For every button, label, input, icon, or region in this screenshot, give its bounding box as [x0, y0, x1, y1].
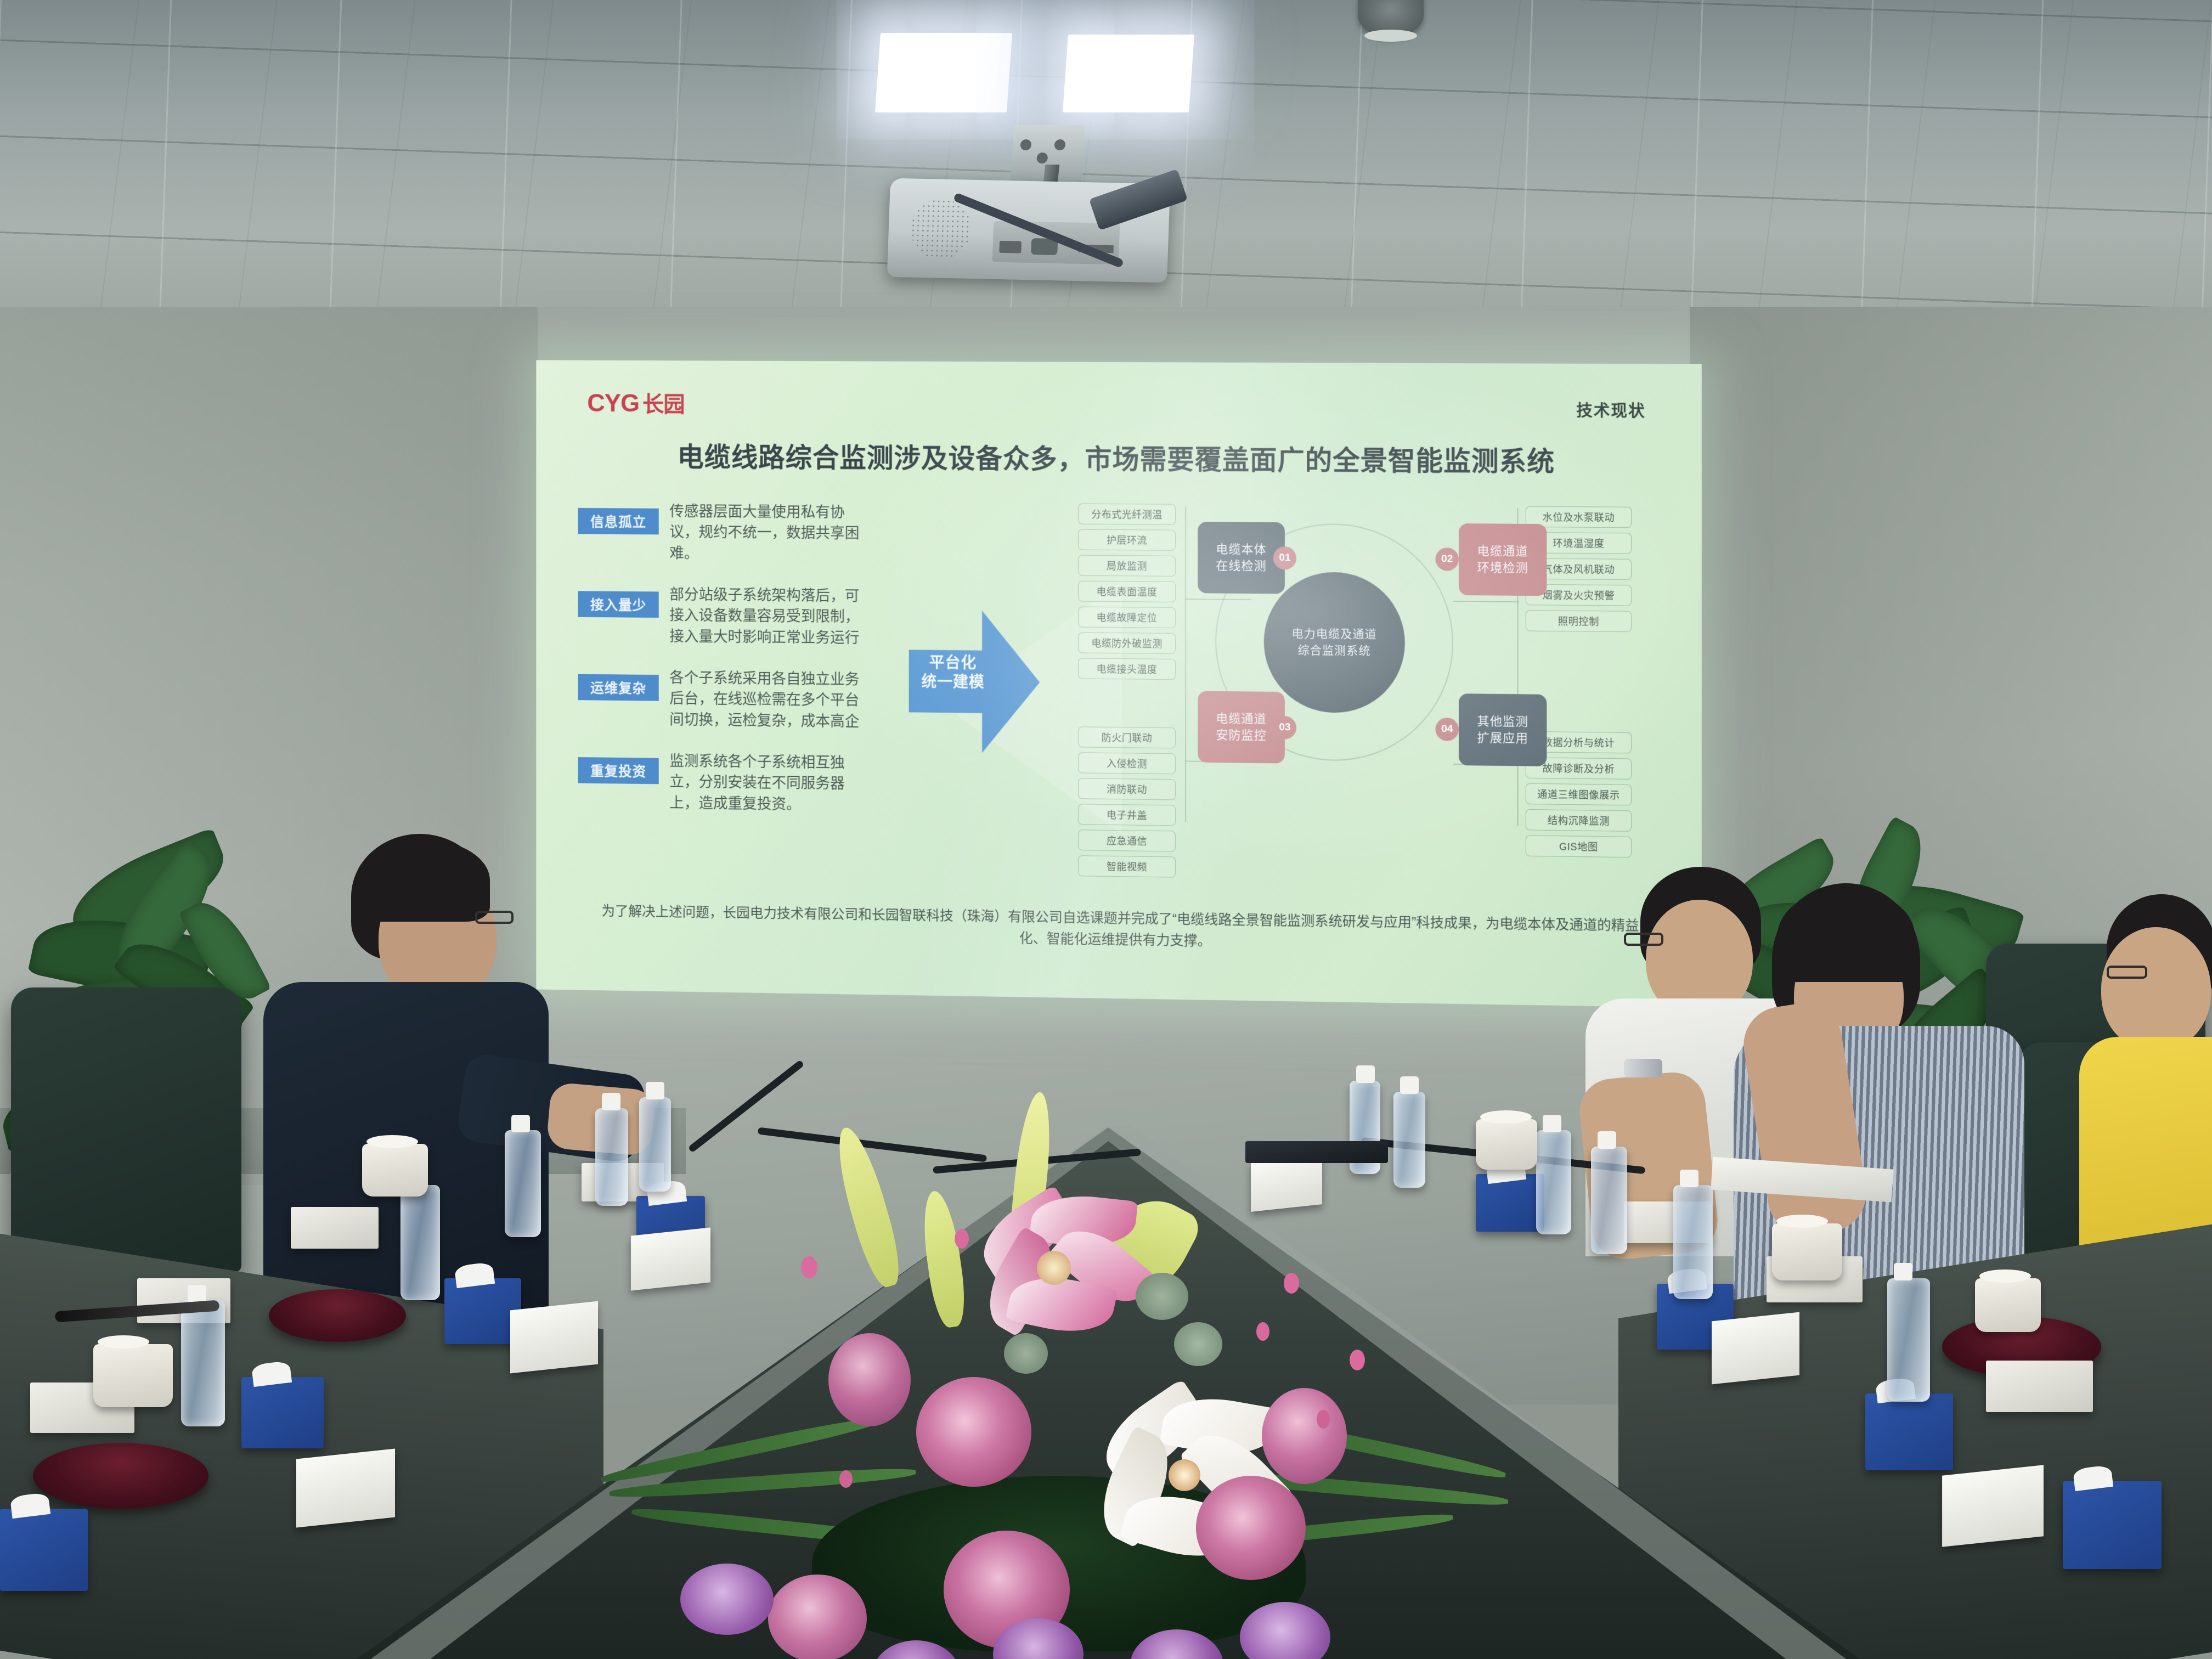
quadrant-card-04: 其他监测 扩展应用: [1459, 693, 1547, 766]
capability-pill: 防火门联动: [1078, 726, 1176, 748]
issue-tag: 接入量少: [578, 591, 659, 618]
capability-pill: 通道三维图像展示: [1526, 783, 1632, 806]
quadrant-card-02: 电缆通道 环境检测: [1459, 523, 1547, 596]
logo-chinese-text: 长园: [642, 387, 685, 419]
quadrant-line2: 在线检测: [1216, 557, 1266, 574]
issue-tag: 信息孤立: [578, 508, 659, 534]
capability-pill: 护层环流: [1078, 529, 1176, 551]
issue-item: 信息孤立 传感器层面大量使用私有协议，规约不统一，数据共享困难。: [578, 500, 881, 565]
capability-pill: 智能视频: [1078, 855, 1176, 877]
cyg-logo: CYG 长园: [587, 386, 684, 418]
capability-pill: GIS地图: [1526, 835, 1632, 857]
issue-text: 监测系统各个子系统相互独立，分别安装在不同服务器上，造成重复投资。: [669, 751, 871, 816]
connector-branch: [1453, 601, 1519, 602]
issue-text: 部分站级子系统架构落后，可接入设备数量容易受到限制，接入量大时影响正常业务运行: [669, 584, 871, 648]
quadrant-number-04: 04: [1435, 718, 1459, 741]
napkin-box: [1986, 1361, 2093, 1412]
rose: [1196, 1476, 1306, 1580]
capability-pill: 局放监测: [1078, 555, 1176, 577]
water-bottle: [1536, 1130, 1571, 1234]
platform-arrow: 平台化 统一建模: [909, 610, 1040, 754]
tissue-box: [0, 1509, 88, 1591]
ceiling-light-panel-2: [1063, 35, 1194, 112]
rose-bud: [1262, 1388, 1347, 1484]
connector-rail-left: [1185, 506, 1186, 822]
quadrant-line2: 扩展应用: [1477, 730, 1528, 747]
capability-pill: 照明控制: [1526, 610, 1632, 632]
orchid: [680, 1564, 774, 1635]
issue-text: 各个子系统采用各自独立业务后台，在线巡检需在多个平台间切换，运检复杂，成本高企: [669, 667, 871, 732]
tea-cup: [93, 1344, 173, 1407]
issue-text: 传感器层面大量使用私有协议，规约不统一，数据共享困难。: [669, 501, 864, 565]
water-bottle: [400, 1185, 440, 1300]
grape-bowl: [33, 1443, 208, 1509]
slide-footer-text: 为了解决上述问题，长园电力技术有限公司和长园智联科技（珠海）有限公司自选课题并完…: [595, 901, 1646, 958]
hub-core: 电力电缆及通道 综合监测系统: [1264, 572, 1405, 713]
quadrant-line2: 环境检测: [1477, 560, 1528, 577]
quadrant-line2: 安防监控: [1216, 727, 1266, 744]
capability-pill: 结构沉降监测: [1526, 809, 1632, 832]
napkin-box: [291, 1207, 379, 1249]
water-bottle: [505, 1130, 541, 1237]
tissue-box: [2063, 1481, 2162, 1569]
arrow-label-line2: 统一建模: [912, 672, 994, 692]
name-card: [296, 1449, 395, 1528]
grape-bowl: [269, 1289, 406, 1342]
issues-list: 信息孤立 传感器层面大量使用私有协议，规约不统一，数据共享困难。 接入量少 部分…: [578, 500, 881, 837]
eyeglasses-icon: [2107, 966, 2147, 979]
issue-item: 重复投资 监测系统各个子系统相互独立，分别安装在不同服务器上，造成重复投资。: [578, 749, 881, 816]
pill-column-left-bottom: 防火门联动入侵检测消防联动电子井盖应急通信智能视频: [1078, 726, 1174, 882]
name-card: [510, 1301, 598, 1374]
tissue-box: [1865, 1393, 1953, 1470]
pill-column-left-top: 分布式光纤测温护层环流局放监测电缆表面温度电缆故障定位电缆防外破监测电缆接头温度: [1078, 504, 1174, 685]
issue-item: 接入量少 部分站级子系统架构落后，可接入设备数量容易受到限制，接入量大时影响正常…: [578, 583, 881, 648]
logo-latin-text: CYG: [587, 388, 639, 417]
tissue-box: [444, 1278, 521, 1344]
ceiling-light-panel-1: [875, 33, 1012, 112]
arrow-label: 平台化 统一建模: [912, 653, 994, 692]
arrow-label-line1: 平台化: [912, 653, 994, 673]
rose-bud: [828, 1333, 911, 1426]
quadrant-line1: 电缆本体: [1216, 541, 1266, 558]
quadrant-card-03: 电缆通道 安防监控: [1198, 691, 1285, 764]
issue-tag: 重复投资: [578, 757, 659, 784]
capability-pill: 分布式光纤测温: [1078, 504, 1176, 525]
tea-cup: [1772, 1223, 1842, 1280]
projected-slide: CYG 长园 技术现状 电缆线路综合监测涉及设备众多，市场需要覆盖面广的全景智能…: [536, 360, 1701, 1008]
quadrant-number-02: 02: [1435, 548, 1459, 571]
capability-pill: 电缆故障定位: [1078, 606, 1176, 628]
quadrant-line1: 电缆通道: [1477, 543, 1528, 560]
capability-pill: 电缆接头温度: [1078, 658, 1176, 680]
floral-centerpiece: [620, 1092, 1520, 1659]
capability-pill: 电子井盖: [1078, 804, 1176, 826]
capability-pill: 电缆表面温度: [1078, 581, 1176, 602]
water-bottle: [1673, 1185, 1713, 1299]
name-card: [1942, 1465, 2044, 1547]
water-bottle: [1591, 1147, 1627, 1254]
wristwatch: [1624, 1059, 1662, 1077]
quadrant-number-01: 01: [1273, 546, 1296, 569]
rose: [916, 1377, 1031, 1487]
hub-line1: 电力电缆及通道: [1292, 626, 1377, 643]
eyeglasses-icon: [1624, 933, 1663, 946]
water-bottle: [181, 1300, 225, 1426]
capability-pill: 消防联动: [1078, 778, 1176, 800]
slide-section-label: 技术现状: [1576, 398, 1645, 421]
eyeglasses-icon: [475, 911, 513, 924]
conference-room-photo: CYG 长园 技术现状 电缆线路综合监测涉及设备众多，市场需要覆盖面广的全景智能…: [0, 0, 2212, 1659]
tissue-box: [241, 1377, 324, 1448]
hub-line2: 综合监测系统: [1298, 642, 1371, 659]
capability-pill: 入侵检测: [1078, 752, 1176, 774]
water-bottle: [1887, 1278, 1930, 1402]
tea-cup: [1975, 1278, 2041, 1332]
quadrant-card-01: 电缆本体 在线检测: [1198, 522, 1285, 594]
issue-tag: 运维复杂: [578, 674, 659, 701]
quadrant-line1: 电缆通道: [1216, 710, 1266, 727]
issue-item: 运维复杂 各个子系统采用各自独立业务后台，在线巡检需在多个平台间切换，运检复杂，…: [578, 667, 881, 732]
quadrant-number-03: 03: [1273, 716, 1296, 740]
office-chair-left: [11, 988, 241, 1273]
capability-pill: 应急通信: [1078, 830, 1176, 851]
slide-title: 电缆线路综合监测涉及设备众多，市场需要覆盖面广的全景智能监测系统: [536, 435, 1701, 480]
rose: [768, 1575, 867, 1659]
name-card: [1712, 1312, 1799, 1385]
tea-cup: [362, 1144, 428, 1197]
capability-pill: 电缆防外破监测: [1078, 632, 1176, 654]
quadrant-line1: 其他监测: [1477, 713, 1528, 730]
